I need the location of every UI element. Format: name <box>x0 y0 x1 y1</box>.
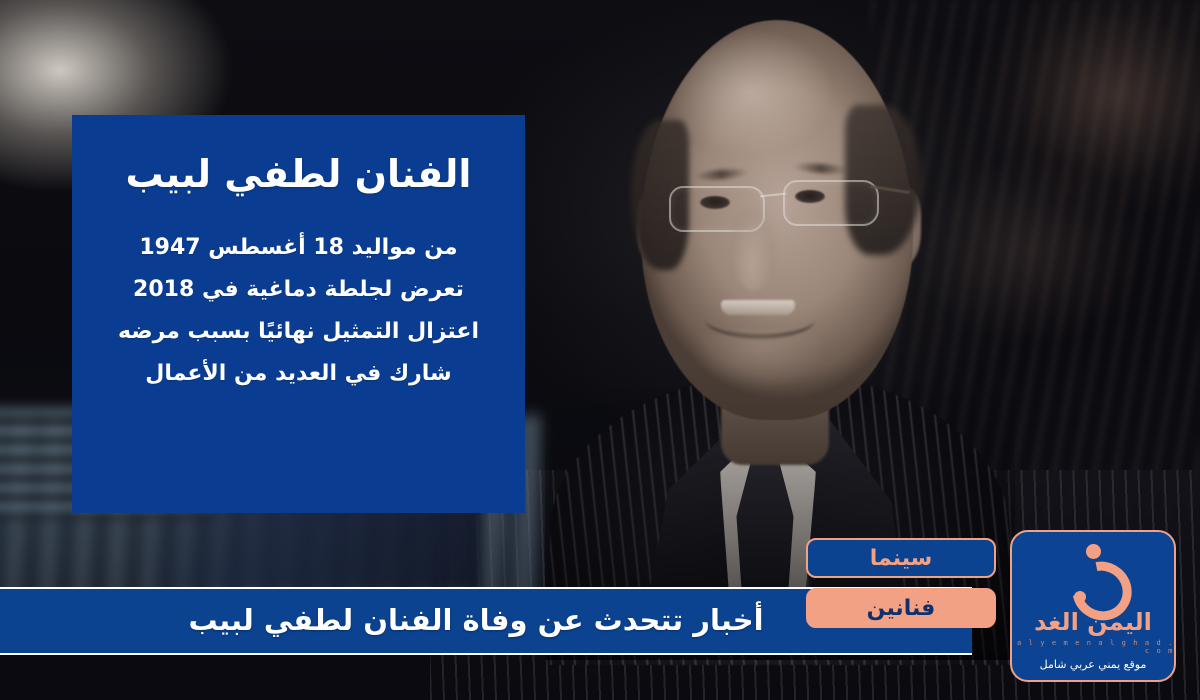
poster-canvas: الفنان لطفي لبيب من مواليد 18 أغسطس 1947… <box>0 0 1200 700</box>
site-logo-card[interactable]: اليمن الغد a l y e m e n a l g h a d . c… <box>1010 530 1176 682</box>
info-panel: الفنان لطفي لبيب من مواليد 18 أغسطس 1947… <box>72 115 525 513</box>
info-line: من مواليد 18 أغسطس 1947 <box>90 231 507 264</box>
ghayn-dot-icon <box>1086 544 1101 559</box>
tag-cinema[interactable]: سينما <box>806 538 996 578</box>
ghayn-letter-icon <box>1062 544 1124 604</box>
page-title: الفنان لطفي لبيب <box>126 151 472 197</box>
info-line-list: من مواليد 18 أغسطس 1947 تعرض لجلطة دماغي… <box>90 231 507 390</box>
tag-group: سينما فنانين <box>806 538 996 628</box>
info-line: شارك في العديد من الأعمال <box>90 357 507 390</box>
ghayn-tail-dot-icon <box>1074 591 1086 603</box>
tag-artists[interactable]: فنانين <box>806 588 996 628</box>
info-line: اعتزال التمثيل نهائيًا بسبب مرضه <box>90 315 507 348</box>
info-line: تعرض لجلطة دماغية في 2018 <box>90 273 507 306</box>
site-tagline: موقع يمني عربي شامل <box>1040 658 1147 671</box>
headline-text: أخبار تتحدث عن وفاة الفنان لطفي لبيب <box>188 605 783 637</box>
site-url: a l y e m e n a l g h a d . c o m <box>1012 639 1174 655</box>
